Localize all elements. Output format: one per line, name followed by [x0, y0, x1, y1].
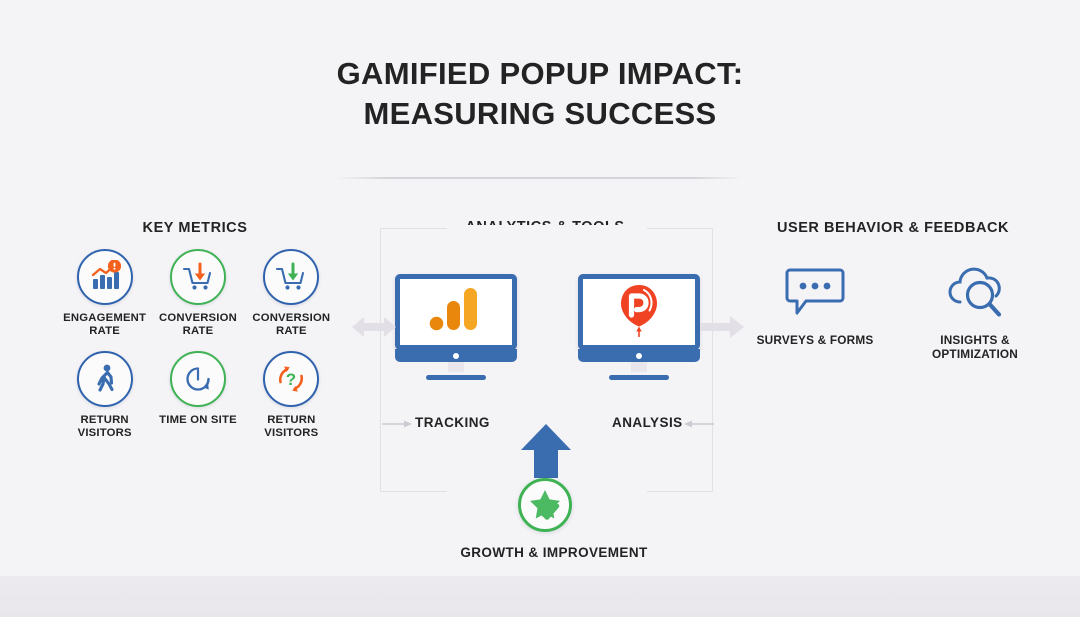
user-behavior-row: SURVEYS & FORMS INSIGHTS & OPTIMIZATION	[750, 262, 1040, 361]
metric-label: TIME ON SITE	[159, 414, 237, 427]
speech-bubble-dots-icon	[784, 262, 846, 324]
poptin-balloon-logo	[614, 282, 664, 342]
user-behavior-heading: USER BEHAVIOR & FEEDBACK	[706, 220, 1080, 236]
title-line-2: MEASURING SUCCESS	[0, 94, 1080, 134]
page-title: GAMIFIED POPUP IMPACT: MEASURING SUCCESS	[0, 54, 1080, 135]
monitor-chin	[578, 349, 700, 362]
metric-return-visitors-1[interactable]: RETURN VISITORS	[58, 351, 151, 441]
analytics-tools-row	[395, 274, 700, 380]
analysis-label: ANALYSIS	[612, 415, 683, 430]
walking-person-icon	[77, 351, 133, 407]
svg-text:?: ?	[286, 370, 296, 389]
metric-engagement-rate[interactable]: ENGAGEMENT RATE	[58, 249, 151, 339]
monitor-screen	[578, 274, 700, 350]
refresh-question-icon: ?	[263, 351, 319, 407]
monitor-led	[636, 353, 642, 359]
user-behavior-surveys[interactable]: SURVEYS & FORMS	[750, 262, 880, 361]
analysis-arrow-icon	[684, 419, 714, 429]
metric-label: RETURN VISITORS	[58, 414, 151, 441]
key-metrics-grid: ENGAGEMENT RATE CONVERSION RATE	[58, 249, 338, 440]
tool-google-analytics[interactable]	[395, 274, 517, 380]
tracking-arrow-icon	[382, 419, 412, 429]
star-check-badge-icon[interactable]	[518, 478, 572, 532]
infographic-slide: GAMIFIED POPUP IMPACT: MEASURING SUCCESS…	[0, 0, 1080, 617]
up-arrow-icon	[519, 422, 573, 480]
metric-label: CONVERSION RATE	[151, 312, 244, 339]
metric-label: RETURN VISITORS	[245, 414, 338, 441]
growth-improvement-caption: GROWTH & IMPROVEMENT	[380, 545, 728, 560]
cart-down-arrow-icon	[170, 249, 226, 305]
monitor-neck	[448, 362, 464, 372]
clock-timer-icon	[170, 351, 226, 407]
panel-notch-top	[447, 225, 647, 233]
monitor-base	[609, 375, 669, 380]
user-behavior-label: SURVEYS & FORMS	[757, 333, 874, 347]
monitor-screen	[395, 274, 517, 350]
monitor-chin	[395, 349, 517, 362]
metric-conversion-rate-1[interactable]: CONVERSION RATE	[151, 249, 244, 339]
cart-down-arrow-green-icon	[263, 249, 319, 305]
key-metrics-heading: KEY METRICS	[0, 220, 390, 236]
user-behavior-label: INSIGHTS & OPTIMIZATION	[910, 333, 1040, 361]
tool-poptin[interactable]	[578, 274, 700, 380]
metric-return-visitors-2[interactable]: ? RETURN VISITORS	[245, 351, 338, 441]
monitor-neck	[631, 362, 647, 372]
metric-time-on-site[interactable]: TIME ON SITE	[151, 351, 244, 441]
metric-label: CONVERSION RATE	[245, 312, 338, 339]
monitor-base	[426, 375, 486, 380]
metric-conversion-rate-2[interactable]: CONVERSION RATE	[245, 249, 338, 339]
title-divider	[337, 177, 743, 179]
tracking-label: TRACKING	[415, 415, 490, 430]
cloud-search-icon	[944, 262, 1006, 324]
bottom-gradient-band	[0, 576, 1080, 617]
google-analytics-logo	[427, 284, 485, 340]
user-behavior-insights[interactable]: INSIGHTS & OPTIMIZATION	[910, 262, 1040, 361]
title-line-1: GAMIFIED POPUP IMPACT:	[0, 54, 1080, 94]
right-arrow-icon	[700, 312, 744, 342]
monitor-led	[453, 353, 459, 359]
metric-label: ENGAGEMENT RATE	[58, 312, 151, 339]
bar-chart-alert-icon	[77, 249, 133, 305]
double-arrow-icon	[352, 312, 396, 342]
